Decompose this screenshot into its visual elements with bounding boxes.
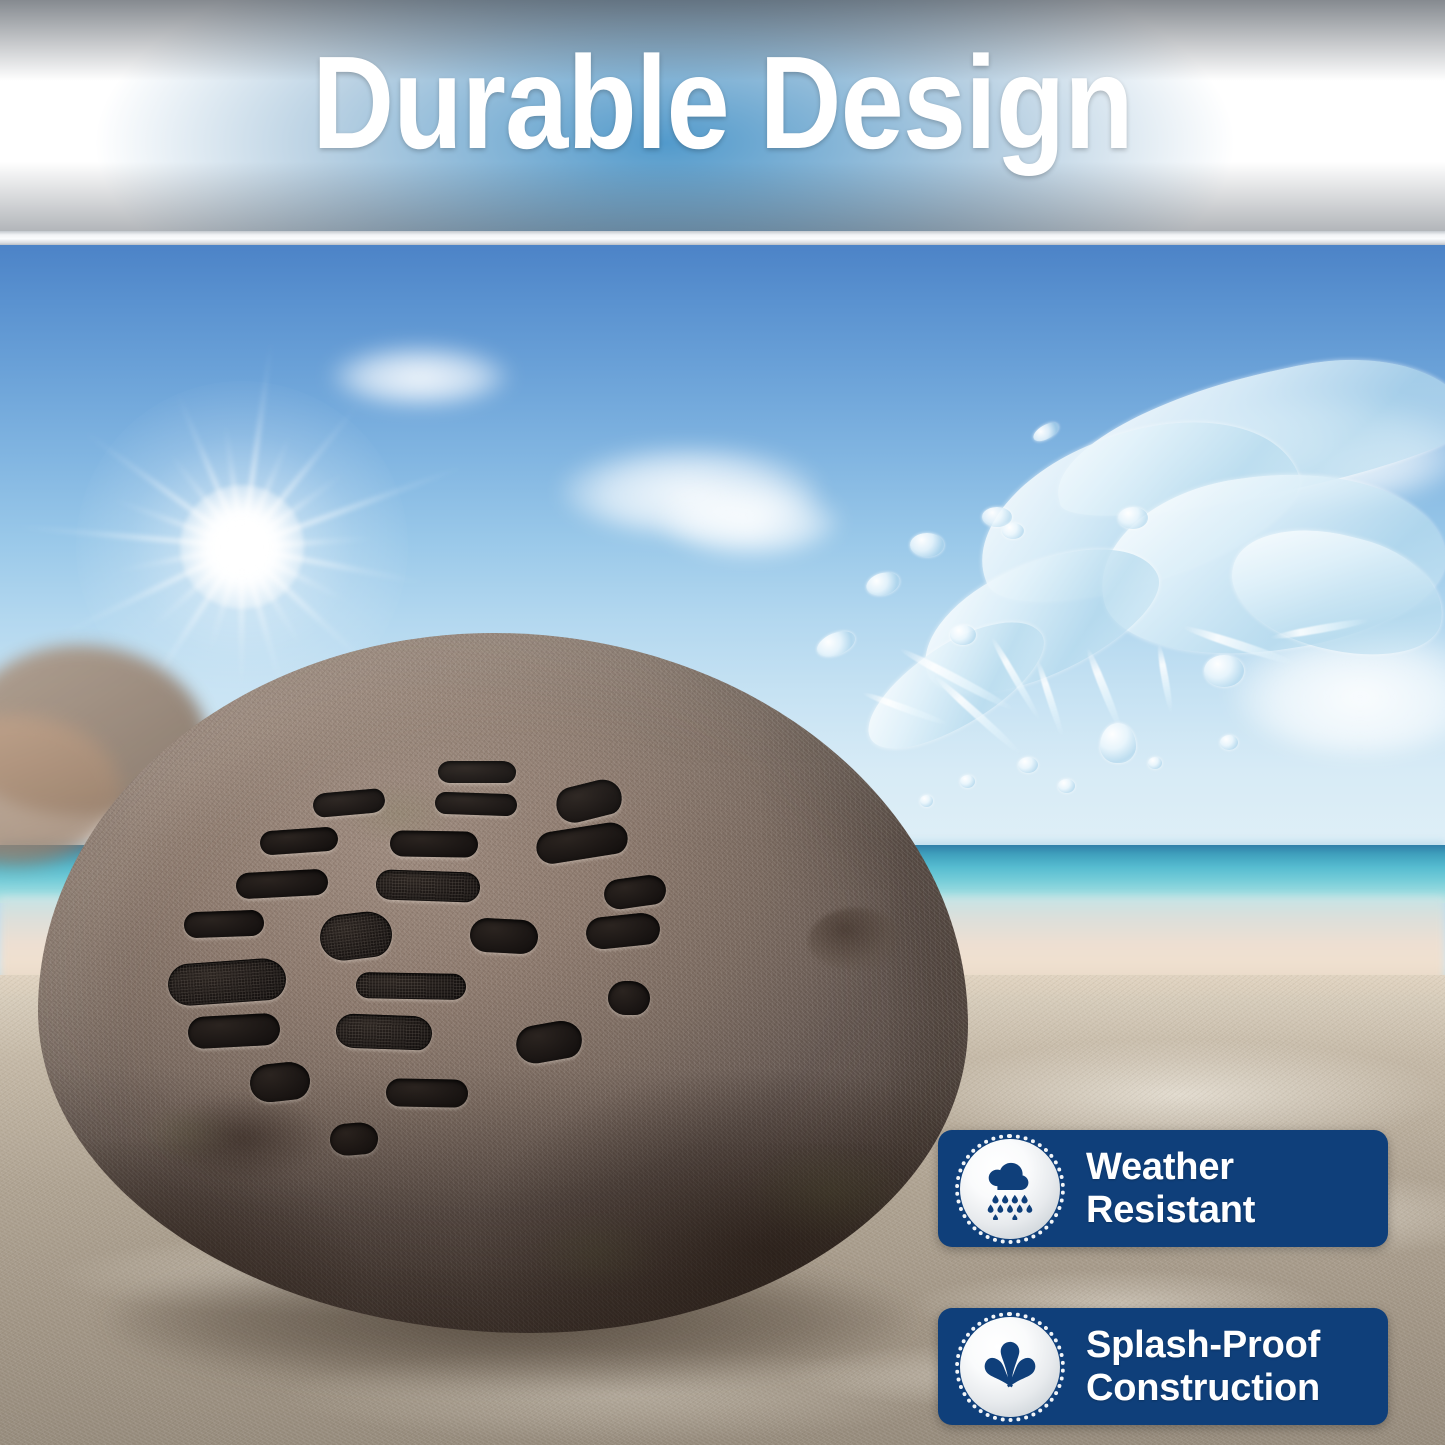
water-splash bbox=[800, 375, 1445, 875]
water-droplet bbox=[1100, 723, 1136, 763]
water-droplet bbox=[1058, 779, 1075, 793]
badge-weather-resistant[interactable]: Weather Resistant bbox=[938, 1130, 1388, 1247]
cloud-icon bbox=[330, 345, 510, 405]
sun-core bbox=[180, 485, 304, 609]
water-splash-glyph bbox=[979, 1336, 1041, 1398]
water-droplet bbox=[1220, 735, 1238, 750]
water-droplet bbox=[920, 795, 933, 807]
water-droplet bbox=[1030, 419, 1061, 445]
water-splash-icon bbox=[960, 1317, 1060, 1417]
water-droplet bbox=[1018, 757, 1038, 773]
page-title: Durable Design bbox=[101, 0, 1344, 231]
header-separator-bar bbox=[0, 231, 1445, 245]
badge-label: Weather Resistant bbox=[1086, 1146, 1255, 1231]
water-streak bbox=[1155, 643, 1174, 713]
water-droplet bbox=[813, 626, 858, 661]
water-droplet bbox=[910, 533, 944, 557]
water-droplet bbox=[1148, 757, 1162, 769]
sun-icon bbox=[122, 427, 362, 667]
product-feature-image: Durable Design bbox=[0, 0, 1445, 1445]
water-droplet bbox=[950, 625, 976, 645]
water-droplet bbox=[1118, 507, 1148, 529]
badge-label: Splash-Proof Construction bbox=[1086, 1324, 1320, 1409]
water-streak bbox=[1084, 647, 1124, 732]
rain-cloud-glyph bbox=[979, 1158, 1041, 1220]
header-banner: Durable Design bbox=[0, 0, 1445, 231]
badge-splash-proof[interactable]: Splash-Proof Construction bbox=[938, 1308, 1388, 1425]
water-droplet bbox=[864, 569, 903, 600]
water-droplet bbox=[1204, 655, 1244, 687]
water-droplet bbox=[960, 775, 975, 788]
product-photo: Weather Resistant Splash-Proof Construct… bbox=[0, 245, 1445, 1445]
water-droplet bbox=[1002, 523, 1024, 539]
rain-cloud-icon bbox=[960, 1139, 1060, 1239]
